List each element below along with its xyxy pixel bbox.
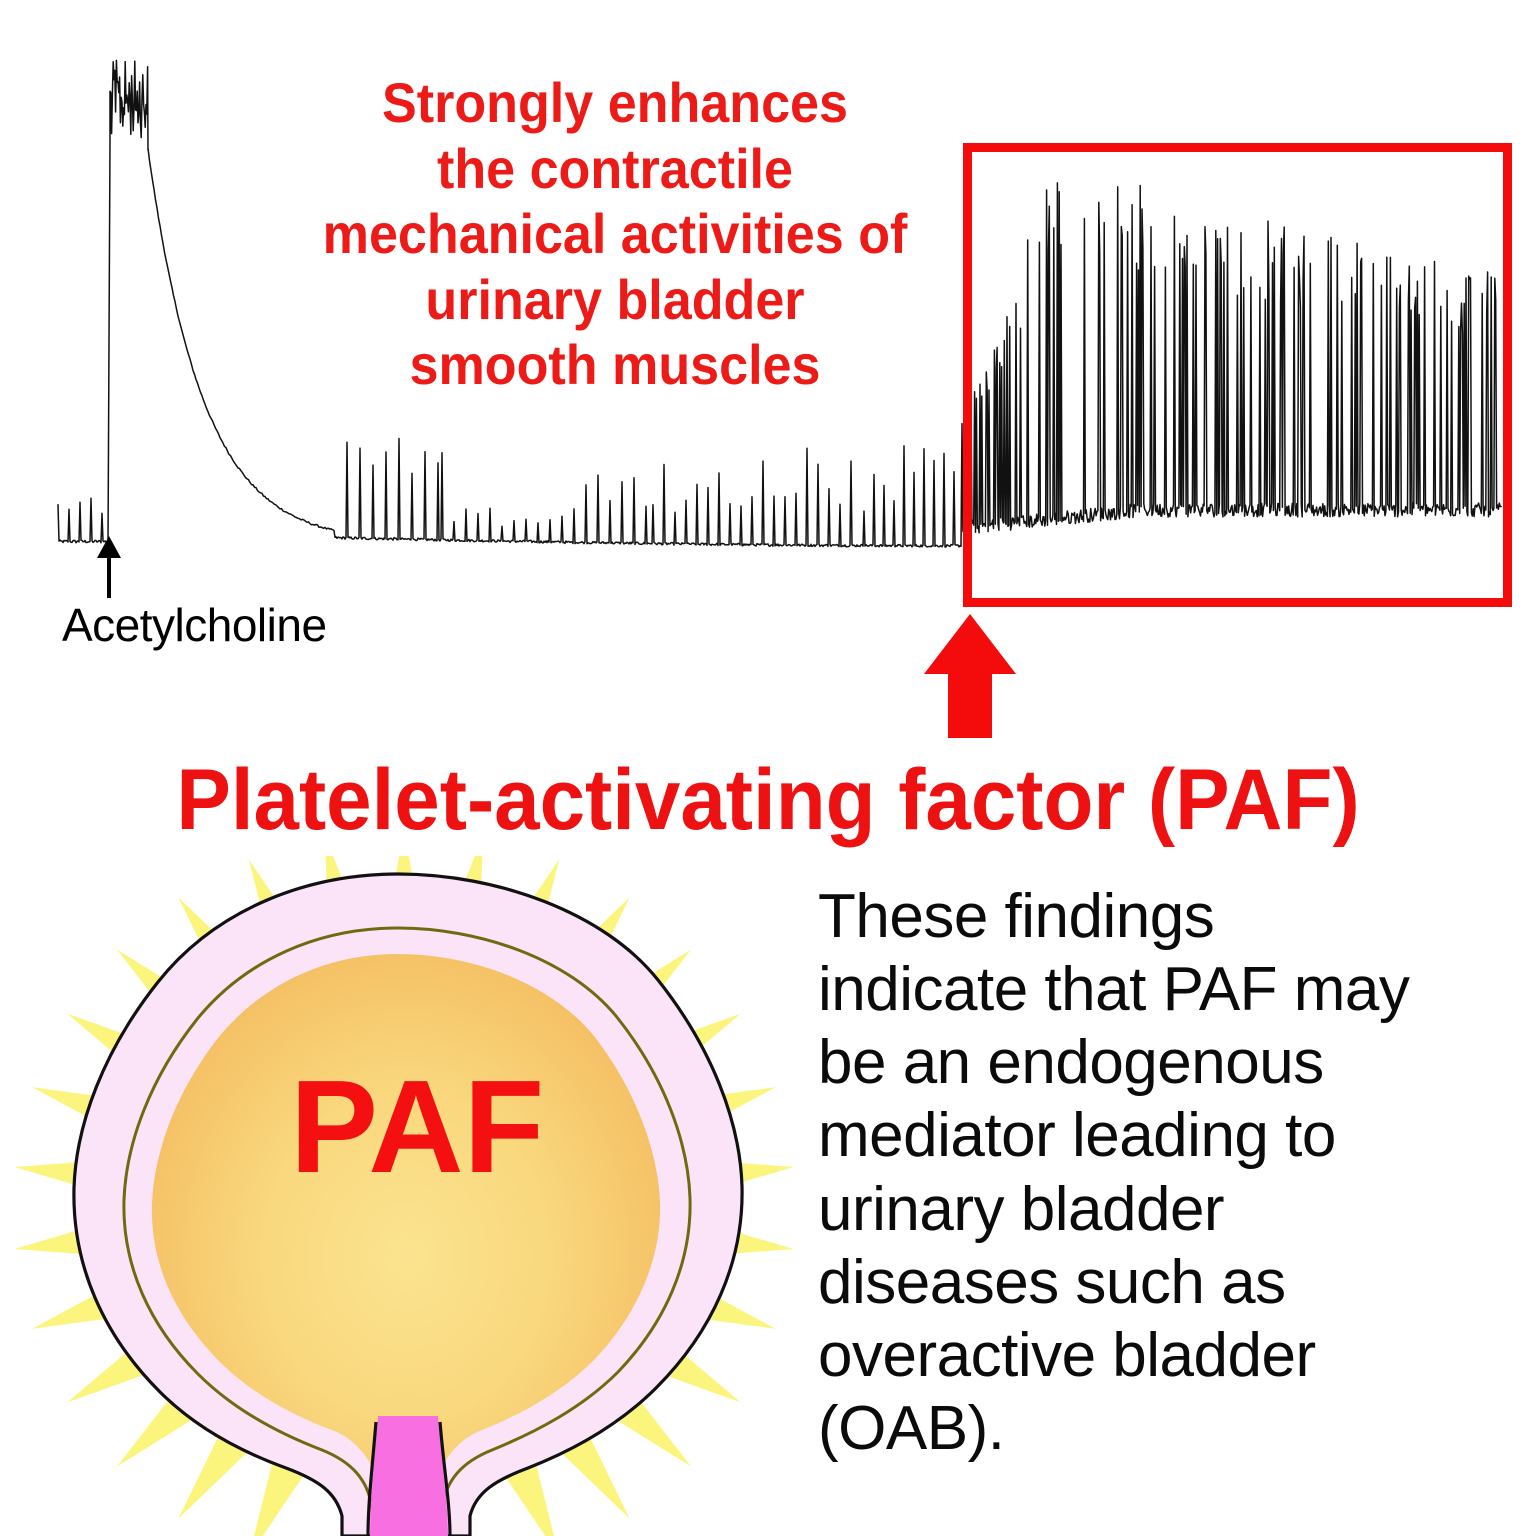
conclusion-paragraph: These findings indicate that PAF may be …: [818, 880, 1518, 1465]
bladder-paf-label: PAF: [290, 1053, 544, 1200]
page-title: Platelet-activating factor (PAF): [38, 757, 1497, 843]
acetylcholine-arrow-icon: [86, 536, 132, 598]
acetylcholine-label: Acetylcholine: [62, 598, 327, 652]
headline-text: Strongly enhances the contractile mechan…: [215, 70, 1015, 398]
paf-application-arrow-icon: [922, 612, 1018, 740]
urinary-bladder-diagram: PAF: [0, 856, 820, 1536]
bladder-neck: [370, 1416, 448, 1536]
figure-canvas: Acetylcholine Strongly enhances the cont…: [0, 0, 1536, 1536]
